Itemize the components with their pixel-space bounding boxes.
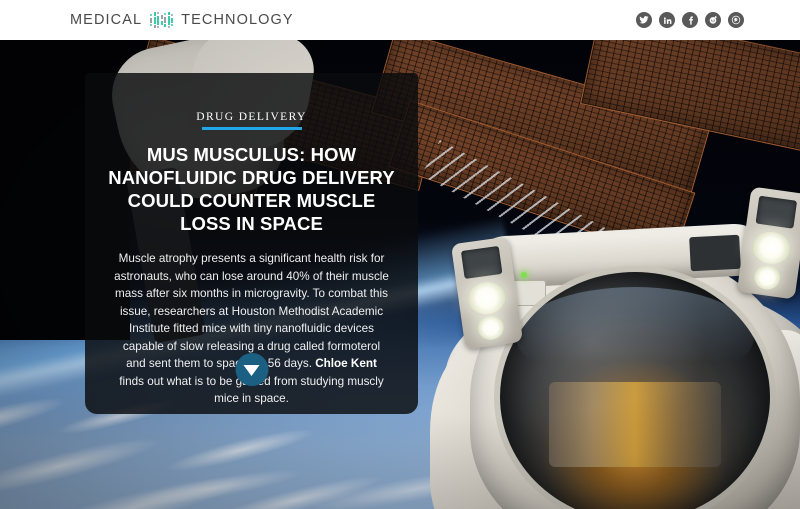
brand-word-medical: MEDICAL <box>70 12 142 28</box>
article-headline[interactable]: MUS MUSCULUS: HOW NANOFLUIDIC DRUG DELIV… <box>107 143 396 235</box>
category-underline <box>202 127 302 130</box>
site-logo[interactable]: MEDICAL <box>70 11 294 29</box>
article-card: DRUG DELIVERY MUS MUSCULUS: HOW NANOFLUI… <box>85 73 418 414</box>
linkedin-icon[interactable] <box>659 12 675 28</box>
article-author[interactable]: Chloe Kent <box>315 357 377 370</box>
reddit-icon[interactable] <box>705 12 721 28</box>
dna-dot-bars-icon <box>148 11 175 29</box>
pinterest-icon[interactable] <box>728 12 744 28</box>
chevron-down-triangle-icon <box>244 365 260 376</box>
twitter-icon[interactable] <box>636 12 652 28</box>
site-header: MEDICAL <box>0 0 800 40</box>
brand-word-technology: TECHNOLOGY <box>181 12 294 28</box>
scroll-down-button[interactable] <box>235 353 268 386</box>
social-links <box>636 12 744 28</box>
page-root: MEDICAL <box>0 0 800 509</box>
facebook-icon[interactable] <box>682 12 698 28</box>
article-kicker-group: DRUG DELIVERY <box>107 111 396 130</box>
category-label[interactable]: DRUG DELIVERY <box>196 111 307 123</box>
